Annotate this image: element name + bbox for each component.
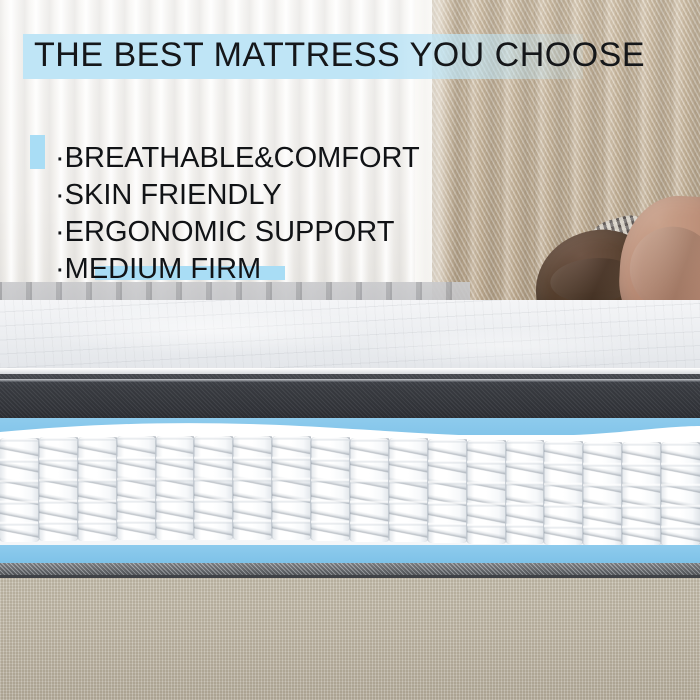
feature-list: ·BREATHABLE&COMFORT ·SKIN FRIENDLY ·ERGO… [55,140,675,288]
spring-coil [0,438,40,542]
spring-coil [310,437,351,541]
spring-coil [232,436,273,540]
spring-coil [38,437,79,541]
fabric-bed-base [0,578,700,700]
spring-coil [349,438,390,542]
spring-coil [543,441,584,545]
quilted-mattress-top [0,300,700,374]
spring-coil [427,439,468,543]
pocket-spring-coil-core [0,435,700,547]
spring-coil [271,436,312,540]
list-item: ·ERGONOMIC SUPPORT [55,214,675,251]
border-highlight-line [0,379,700,382]
accent-bar [30,135,45,169]
list-item: ·MEDIUM FIRM [55,251,675,288]
spring-coil [116,436,157,540]
spring-coil [660,442,700,546]
spring-coil [505,440,546,544]
list-item: ·BREATHABLE&COMFORT [55,140,675,177]
list-item: ·SKIN FRIENDLY [55,177,675,214]
spring-coil [466,440,507,544]
product-banner: THE BEST MATTRESS YOU CHOOSE ·BREATHABLE… [0,0,700,700]
spring-coil [77,437,118,541]
spring-coil [621,442,662,546]
spring-coil [155,436,196,540]
spring-coil [582,442,623,546]
spring-coil [193,436,234,540]
page-title: THE BEST MATTRESS YOU CHOOSE [34,36,684,75]
blue-foam-layer-bottom [0,545,700,563]
spring-coil [388,438,429,542]
